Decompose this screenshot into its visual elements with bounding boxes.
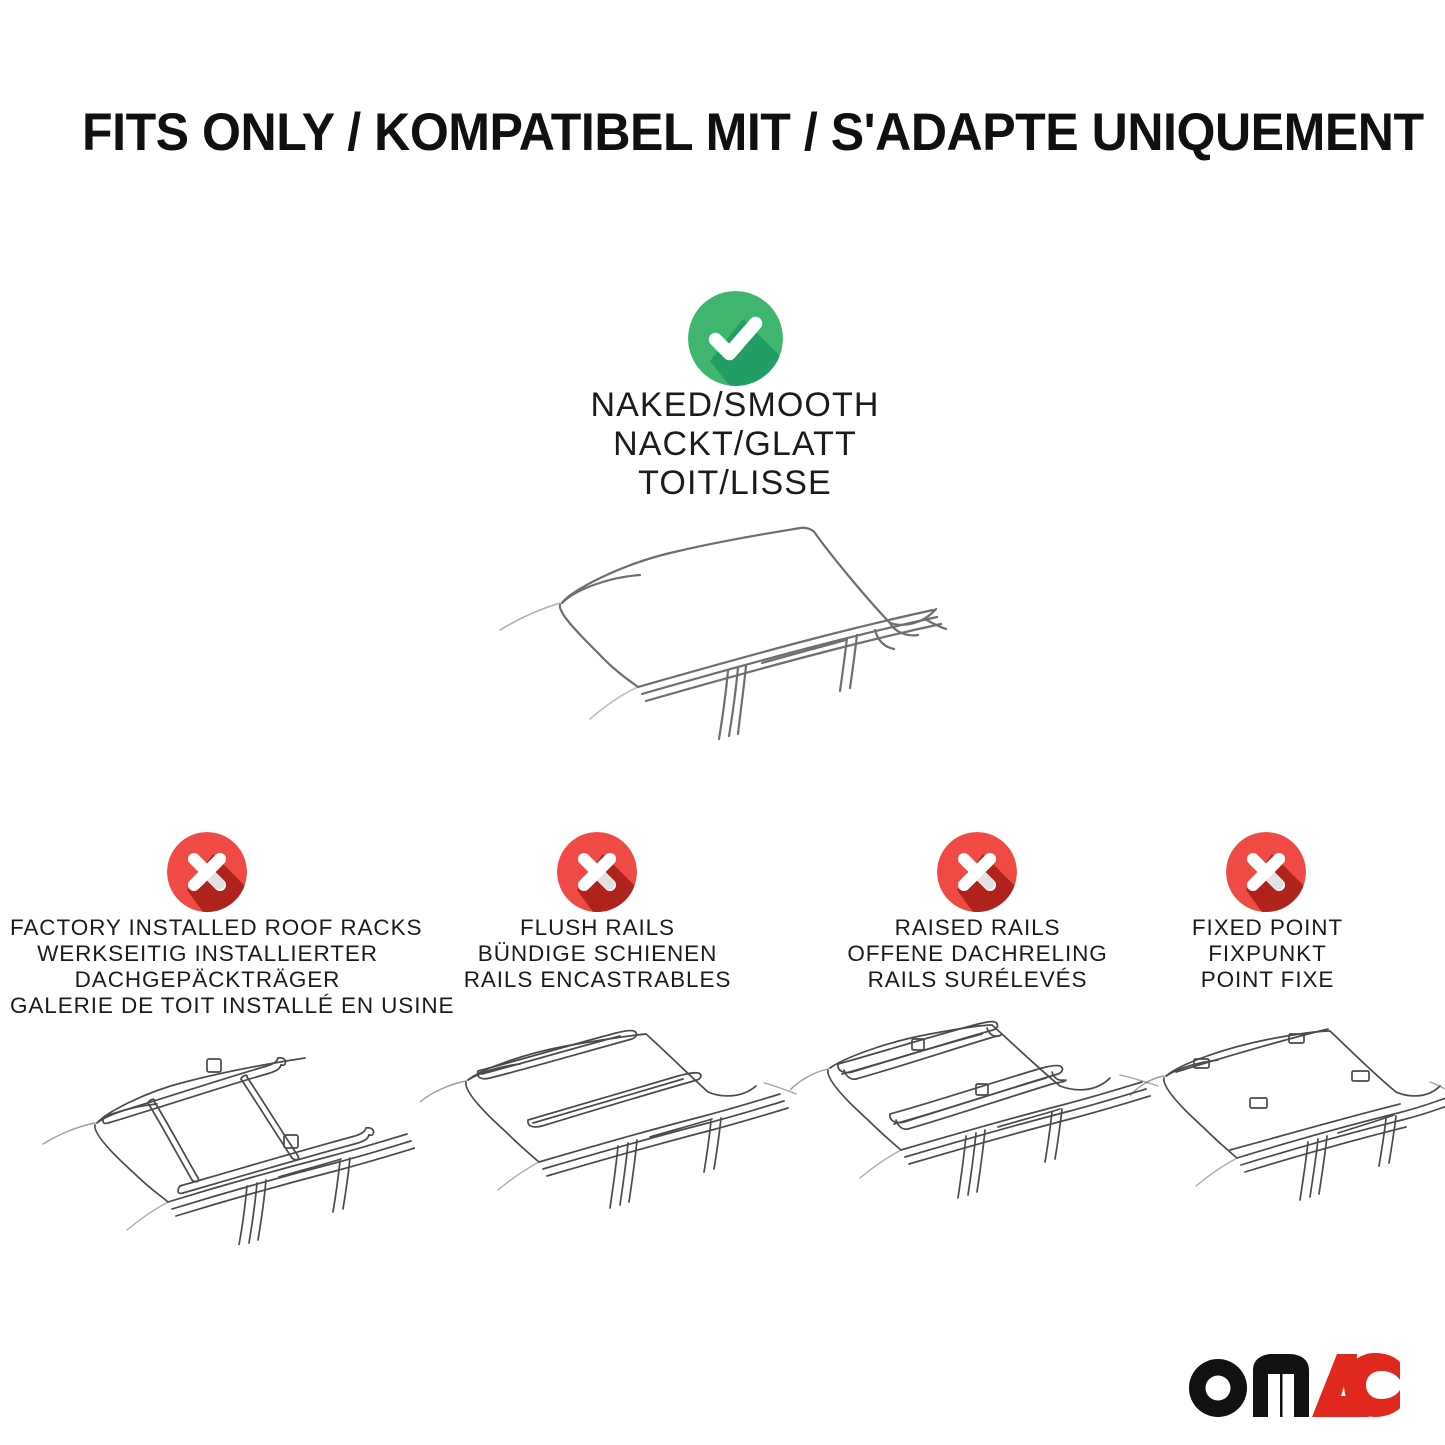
label-line: BÜNDIGE SCHIENEN <box>420 941 775 967</box>
label-line: WERKSEITIG INSTALLIERTER <box>10 941 405 967</box>
label-line: NAKED/SMOOTH <box>485 386 985 425</box>
x-circle-icon <box>557 832 637 912</box>
label-line: RAISED RAILS <box>795 915 1160 941</box>
label-line: FIXED POINT <box>1115 915 1420 941</box>
label-flush-rails: FLUSH RAILS BÜNDIGE SCHIENEN RAILS ENCAS… <box>420 915 775 993</box>
label-fixed-point: FIXED POINT FIXPUNKT POINT FIXE <box>1115 915 1420 993</box>
label-factory-installed-roof-racks: FACTORY INSTALLED ROOF RACKS WERKSEITIG … <box>10 915 405 1019</box>
label-line: FACTORY INSTALLED ROOF RACKS <box>10 915 405 941</box>
roof-with-flush-rails-illustration <box>420 1020 800 1245</box>
label-line: FLUSH RAILS <box>420 915 775 941</box>
roof-with-raised-rails-illustration <box>790 1020 1170 1245</box>
label-line: POINT FIXE <box>1115 967 1420 993</box>
label-line: RAILS ENCASTRABLES <box>420 967 775 993</box>
logo-letter-o <box>1189 1359 1247 1417</box>
roof-with-fixed-points-illustration <box>1130 1020 1445 1245</box>
label-line: RAILS SURÉLEVÉS <box>795 967 1160 993</box>
x-circle-icon <box>937 832 1017 912</box>
roof-with-factory-racks-illustration <box>35 1020 415 1245</box>
label-line: NACKT/GLATT <box>485 425 985 464</box>
page-title: FITS ONLY / KOMPATIBEL MIT / S'ADAPTE UN… <box>82 102 1301 164</box>
check-circle-icon <box>688 291 783 386</box>
label-line: GALERIE DE TOIT INSTALLÉ EN USINE <box>10 993 405 1019</box>
smooth-roof-illustration <box>470 495 1010 755</box>
x-circle-icon <box>1226 832 1306 912</box>
label-naked-smooth: NAKED/SMOOTH NACKT/GLATT TOIT/LISSE <box>485 386 985 503</box>
logo-letter-m <box>1253 1354 1309 1417</box>
label-line: FIXPUNKT <box>1115 941 1420 967</box>
label-raised-rails: RAISED RAILS OFFENE DACHRELING RAILS SUR… <box>795 915 1160 993</box>
omac-logo <box>1185 1352 1400 1418</box>
compatibility-diagram: FITS ONLY / KOMPATIBEL MIT / S'ADAPTE UN… <box>0 0 1445 1445</box>
label-line: OFFENE DACHRELING <box>795 941 1160 967</box>
label-line: DACHGEPÄCKTRÄGER <box>10 967 405 993</box>
x-circle-icon <box>167 832 247 912</box>
